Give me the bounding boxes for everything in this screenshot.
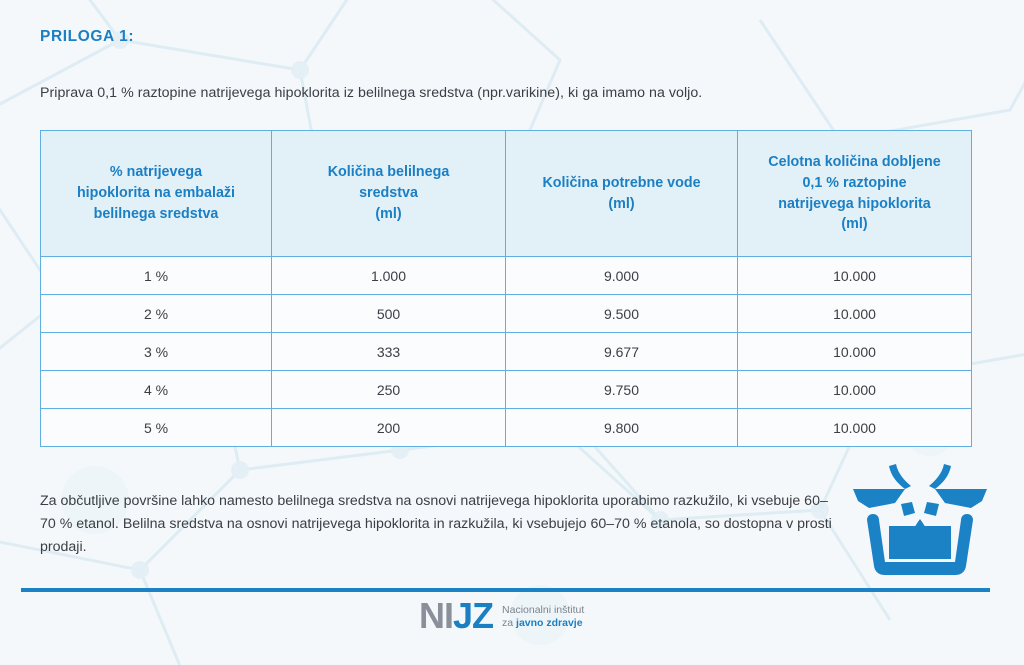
nijz-logo: NIJZ Nacionalni inštitut za javno zdravj… bbox=[419, 598, 584, 634]
dilution-table: % natrijevega hipoklorita na embalaži be… bbox=[40, 130, 972, 447]
logo-wordmark: NIJZ bbox=[419, 598, 493, 634]
table-row: 5 % 200 9.800 10.000 bbox=[41, 409, 972, 447]
footer-note: Za občutljive površine lahko namesto bel… bbox=[40, 490, 840, 559]
header-line: (ml) bbox=[608, 196, 634, 212]
header-line: Količina potrebne vode bbox=[542, 175, 700, 191]
cell-total: 10.000 bbox=[738, 333, 972, 371]
header-line: (ml) bbox=[841, 216, 867, 232]
cell-bleach: 1.000 bbox=[272, 257, 506, 295]
table-header: % natrijevega hipoklorita na embalaži be… bbox=[41, 131, 972, 257]
column-header-water-amount: Količina potrebne vode (ml) bbox=[506, 131, 738, 257]
cell-total: 10.000 bbox=[738, 409, 972, 447]
intro-paragraph: Priprava 0,1 % raztopine natrijevega hip… bbox=[40, 85, 702, 101]
header-line: hipoklorita na embalaži bbox=[77, 185, 235, 201]
header-line: sredstva bbox=[359, 185, 418, 201]
footer-divider bbox=[21, 588, 990, 592]
table-row: 3 % 333 9.677 10.000 bbox=[41, 333, 972, 371]
header-line: (ml) bbox=[375, 206, 401, 222]
logo-tagline-za: za bbox=[502, 617, 516, 629]
table-body: 1 % 1.000 9.000 10.000 2 % 500 9.500 10.… bbox=[41, 257, 972, 447]
logo-ni-text: NI bbox=[419, 598, 453, 634]
page-root: PRILOGA 1: Priprava 0,1 % raztopine natr… bbox=[0, 0, 1024, 665]
cell-water: 9.000 bbox=[506, 257, 738, 295]
cell-percent: 1 % bbox=[41, 257, 272, 295]
logo-tagline-bold: javno zdravje bbox=[516, 617, 583, 629]
header-line: Količina belilnega bbox=[328, 164, 450, 180]
header-line: belilnega sredstva bbox=[94, 206, 219, 222]
cell-percent: 4 % bbox=[41, 371, 272, 409]
table-row: 1 % 1.000 9.000 10.000 bbox=[41, 257, 972, 295]
cell-total: 10.000 bbox=[738, 371, 972, 409]
header-line: Celotna količina dobljene bbox=[768, 154, 940, 170]
logo-tagline: Nacionalni inštitut za javno zdravje bbox=[502, 602, 584, 631]
page-title: PRILOGA 1: bbox=[40, 28, 134, 46]
cell-water: 9.677 bbox=[506, 333, 738, 371]
logo-jz-text: JZ bbox=[453, 598, 493, 634]
column-header-percent-hypochlorite: % natrijevega hipoklorita na embalaži be… bbox=[41, 131, 272, 257]
cell-bleach: 250 bbox=[272, 371, 506, 409]
cell-percent: 2 % bbox=[41, 295, 272, 333]
column-header-total-solution: Celotna količina dobljene 0,1 % raztopin… bbox=[738, 131, 972, 257]
table-row: 4 % 250 9.750 10.000 bbox=[41, 371, 972, 409]
cell-total: 10.000 bbox=[738, 295, 972, 333]
cell-total: 10.000 bbox=[738, 257, 972, 295]
cell-water: 9.500 bbox=[506, 295, 738, 333]
cell-percent: 3 % bbox=[41, 333, 272, 371]
cell-water: 9.750 bbox=[506, 371, 738, 409]
logo-tagline-line2: za javno zdravje bbox=[502, 617, 584, 630]
header-line: 0,1 % raztopine bbox=[802, 175, 906, 191]
cell-percent: 5 % bbox=[41, 409, 272, 447]
cell-bleach: 500 bbox=[272, 295, 506, 333]
header-line: natrijevega hipoklorita bbox=[778, 196, 931, 212]
cell-bleach: 333 bbox=[272, 333, 506, 371]
logo-tagline-line1: Nacionalni inštitut bbox=[502, 604, 584, 617]
table-row: 2 % 500 9.500 10.000 bbox=[41, 295, 972, 333]
cell-bleach: 200 bbox=[272, 409, 506, 447]
column-header-bleach-amount: Količina belilnega sredstva (ml) bbox=[272, 131, 506, 257]
table-header-row: % natrijevega hipoklorita na embalaži be… bbox=[41, 131, 972, 257]
bucket-pouring-icon bbox=[845, 462, 995, 577]
cell-water: 9.800 bbox=[506, 409, 738, 447]
header-line: % natrijevega bbox=[110, 164, 202, 180]
